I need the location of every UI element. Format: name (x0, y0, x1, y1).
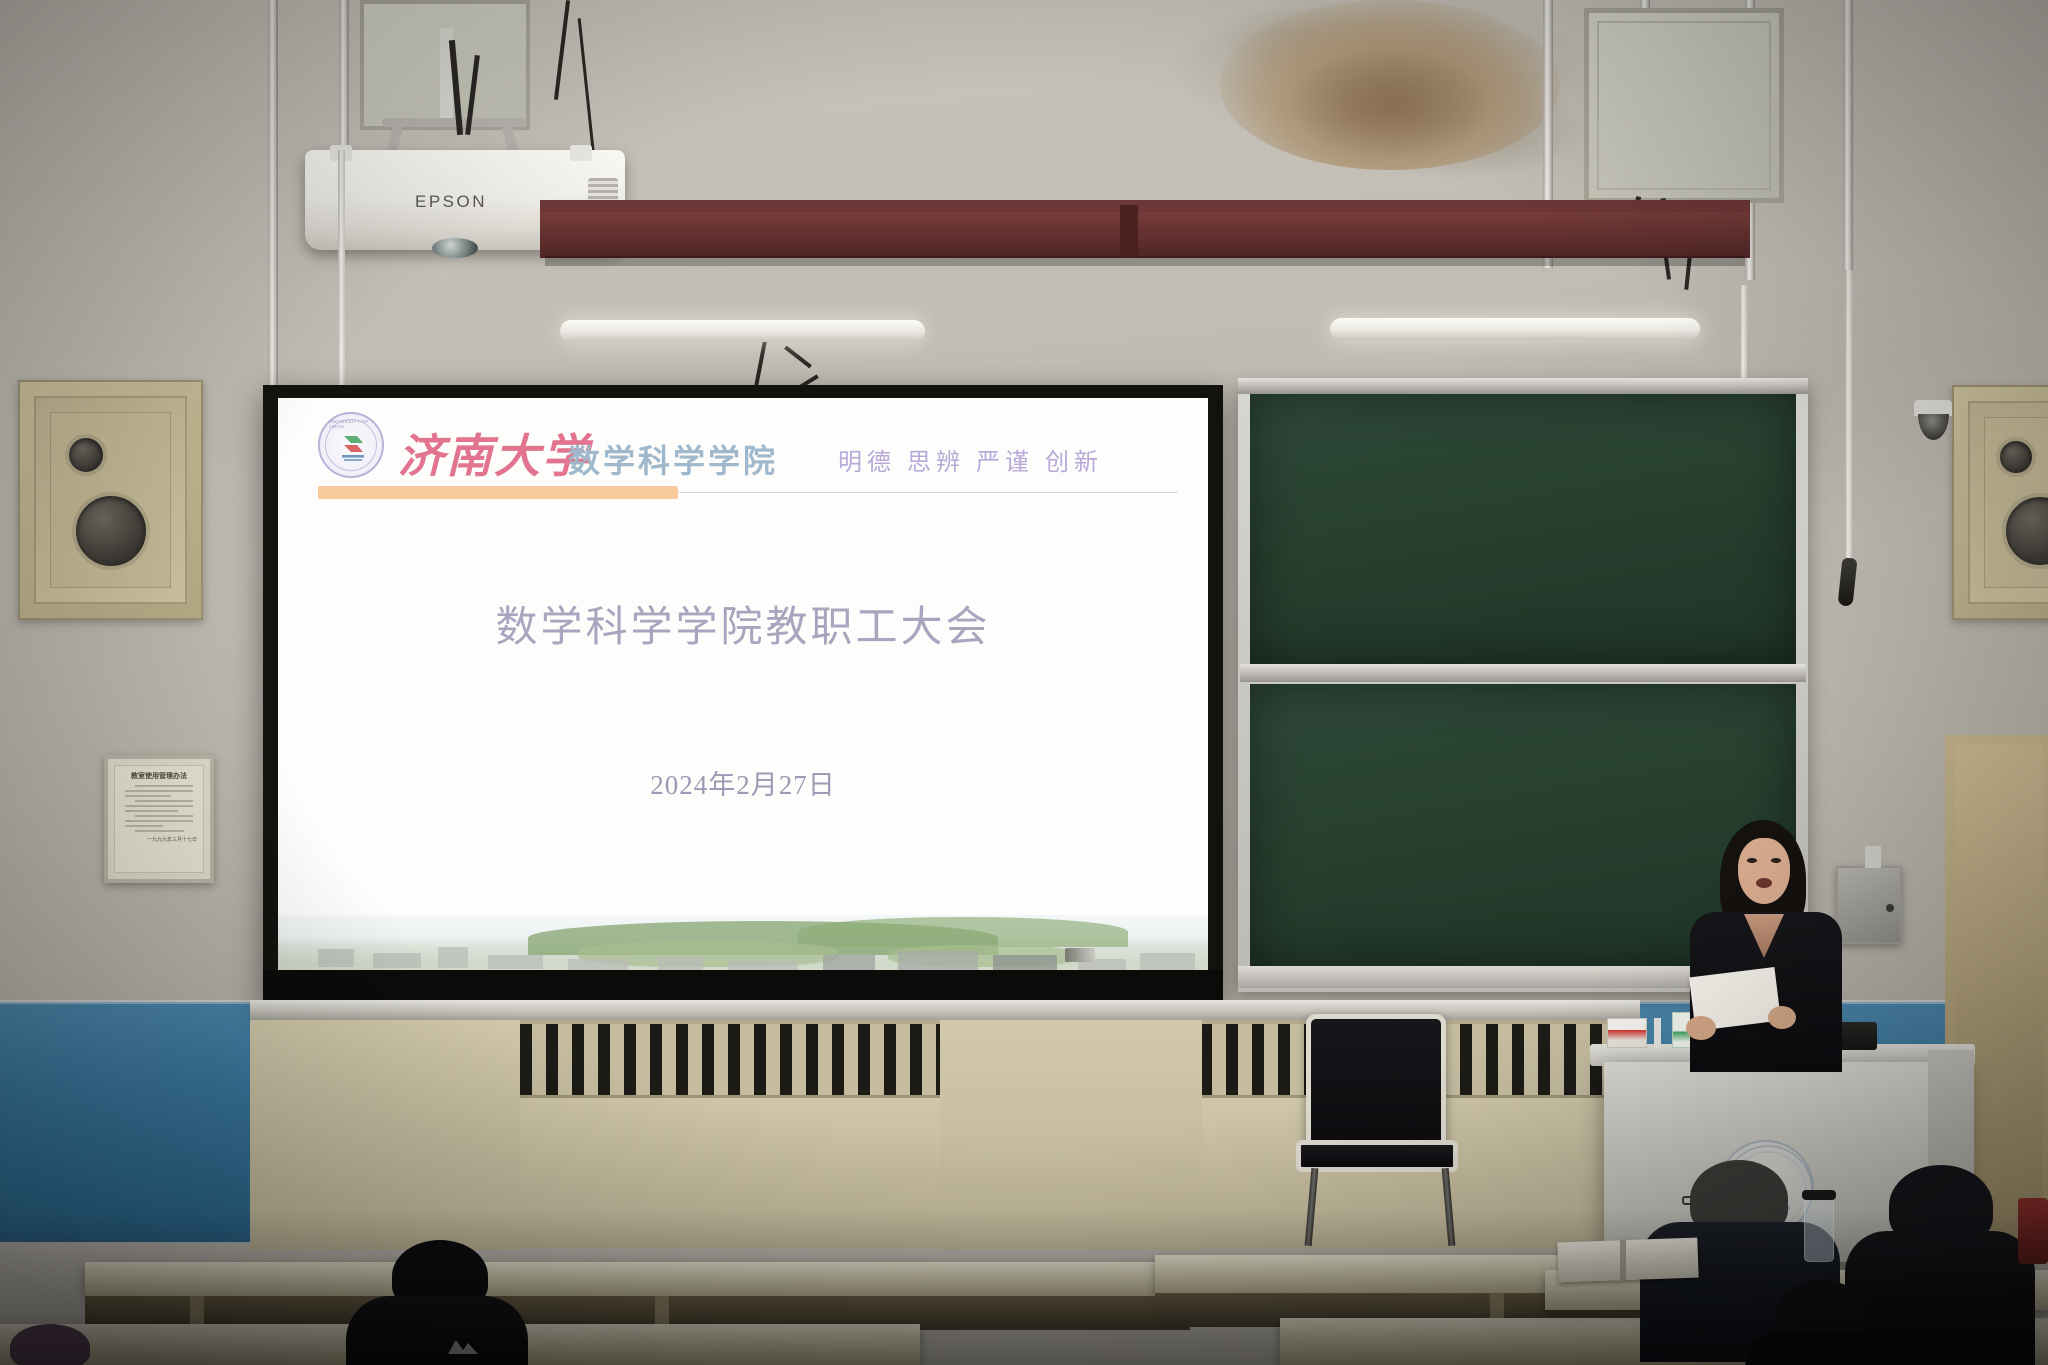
conduit-pipe-2 (339, 0, 349, 150)
presenter-eye-left (1747, 858, 1757, 863)
ceiling-access-panel (1584, 8, 1784, 203)
beam-bracket (1120, 205, 1138, 257)
fluorescent-tube-left (560, 320, 925, 342)
projection-screen-surface: UNIVERSITY OF JINAN 济南大学 数学科学学院 明德 思辨 严谨… (278, 398, 1208, 983)
panorama-building (438, 947, 468, 968)
classroom-photo-scene: EPSON 教室使用管理办法 (0, 0, 2048, 1365)
notice-text-line (135, 830, 184, 832)
blackboard-panel-top (1250, 392, 1796, 664)
electrical-box-latch[interactable] (1886, 904, 1894, 912)
slide-header-rule (678, 492, 1178, 493)
notice-text-line (125, 795, 171, 797)
ceiling-beam-shadow (545, 256, 1745, 266)
slide-date: 2024年2月27日 (278, 763, 1208, 802)
speaker-left-woofer (72, 492, 150, 570)
blackboard-middle-rail (1240, 664, 1806, 682)
panorama-building (318, 949, 354, 967)
logo-chevron-mark (336, 430, 370, 464)
presenter-hand-right (1768, 1006, 1796, 1029)
slide-motto: 明德 思辨 严谨 创新 (838, 442, 1103, 477)
access-panel-inner-frame (1597, 21, 1771, 190)
notice-text-line (135, 815, 193, 817)
slide-main-title: 数学科学学院教职工大会 (278, 593, 1208, 654)
water-glass-lid[interactable] (1802, 1190, 1836, 1200)
attendee-glasses-icon (1682, 1196, 1704, 1205)
classroom-chair-seat[interactable] (1296, 1140, 1458, 1172)
tissue-box-red[interactable] (1607, 1018, 1647, 1048)
presenter-mouth (1756, 878, 1772, 888)
presenter-face (1738, 838, 1790, 904)
notice-text-line (125, 810, 178, 812)
notice-signature: 一九九九年三月十七日 (121, 836, 197, 843)
notice-text-line (135, 800, 193, 802)
ventilation-grille-left (520, 1020, 940, 1100)
classroom-chair-back[interactable] (1306, 1014, 1446, 1149)
notice-text-line (135, 785, 193, 787)
blackboard-top-rail (1238, 378, 1808, 394)
podium-pen (1654, 1018, 1661, 1048)
wall-speaker-left (18, 380, 203, 620)
notice-text-line (125, 805, 193, 807)
wall-notice-plaque: 教室使用管理办法 一九九九年三月十七日 (104, 755, 214, 883)
wall-peeling-patch-2 (1290, 50, 1490, 160)
slide-accent-bar (318, 486, 678, 499)
presenter-hand-left (1686, 1016, 1716, 1040)
presenter-eye-right (1771, 858, 1781, 863)
speaker-left-tweeter (65, 434, 107, 476)
notice-text-line (125, 820, 193, 822)
conduit-pipe-6 (1843, 0, 1853, 270)
foreground-shadow (0, 1210, 2048, 1365)
panorama-building (373, 953, 421, 968)
speaker-right-tweeter (1996, 437, 2036, 477)
slide-university-name: 济南大学 (398, 420, 590, 486)
fluorescent-tube-right (1330, 318, 1700, 340)
notice-text-line (125, 790, 193, 792)
projector-brand-label: EPSON (415, 192, 487, 212)
ceiling-beam (540, 208, 1750, 258)
wall-speaker-right (1952, 385, 2048, 620)
panorama-hill-2 (798, 917, 1128, 947)
logo-ring-text: UNIVERSITY OF JINAN (329, 419, 382, 429)
panorama-building (488, 955, 543, 969)
notice-title: 教室使用管理办法 (121, 771, 197, 781)
slide-header-band: UNIVERSITY OF JINAN 济南大学 数学科学学院 明德 思辨 严谨… (278, 398, 1208, 497)
grille-bars (520, 1024, 940, 1095)
electrical-box-conduit (1865, 846, 1881, 868)
university-logo-emblem: UNIVERSITY OF JINAN (318, 412, 384, 478)
presenter-figure (1672, 820, 1852, 1070)
screen-brand-chip (1065, 948, 1095, 962)
notice-text-line (125, 825, 163, 827)
projector-lens (432, 238, 478, 258)
conduit-pipe-1 (268, 0, 278, 430)
notice-plaque-content: 教室使用管理办法 一九九九年三月十七日 (114, 765, 204, 873)
slide-school-name: 数学科学学院 (568, 436, 778, 482)
microphone-rod-far-right (1845, 270, 1852, 560)
projector-foot-right (570, 145, 592, 161)
ceiling-beam-top-edge (540, 200, 1750, 212)
